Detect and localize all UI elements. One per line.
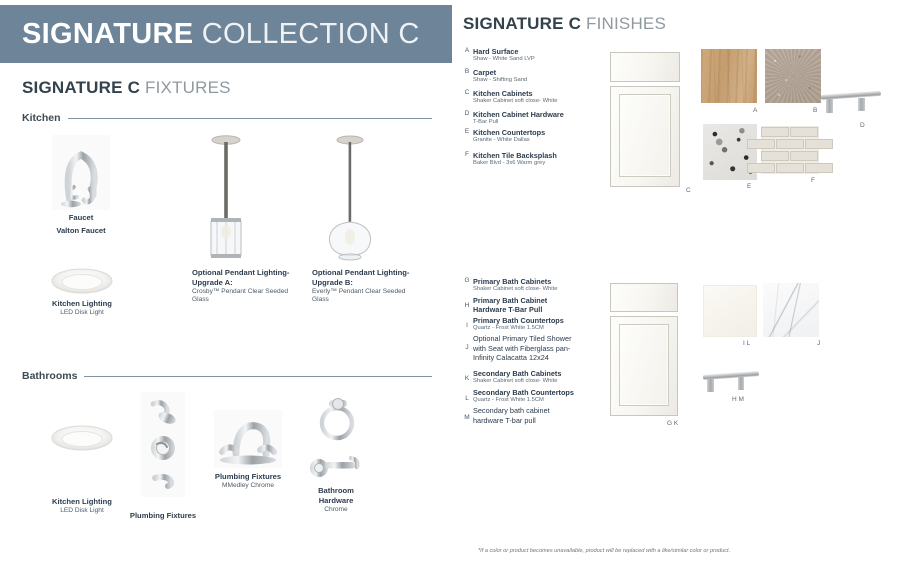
legend-name: Carpet xyxy=(473,68,569,77)
cabinet-drawer-front xyxy=(610,283,678,312)
legend-item-l: L Secondary Bath Countertops Quartz - Fr… xyxy=(461,388,579,405)
legend-name: Kitchen Cabinet Hardware xyxy=(473,110,583,119)
legend-item-k: K Secondary Bath Cabinets Shaker Cabinet… xyxy=(461,369,573,386)
legend-desc: T-Bar Pull xyxy=(473,119,583,127)
swatch-bath-cabinet xyxy=(610,283,678,416)
legend-name: Secondary Bath Cabinets xyxy=(473,369,573,378)
legend-letter: B xyxy=(461,68,473,75)
cabinet-drawer-front xyxy=(610,52,680,82)
shower-trim-icon xyxy=(141,392,185,497)
faucet-icon xyxy=(52,135,110,210)
pendant-b-title: Optional Pendant Lighting- Upgrade B: xyxy=(312,268,422,288)
faucet-subtitle: Valton Faucet xyxy=(45,226,117,236)
legend-item-d: D Kitchen Cabinet Hardware T-Bar Pull xyxy=(461,110,583,127)
legend-letter: D xyxy=(461,110,473,117)
legend-name: Primary Bath Cabinets xyxy=(473,277,573,286)
legend-letter: I xyxy=(461,316,473,329)
bathrooms-divider xyxy=(84,376,432,377)
swatch-label-gk: G K xyxy=(667,420,678,427)
legend-item-f: F Kitchen Tile Backsplash Baker Blvd - 3… xyxy=(461,151,579,168)
swatch-label-j: J xyxy=(817,340,820,347)
swatch-label-e: E xyxy=(747,183,751,190)
swatch-bath-hardware xyxy=(703,368,759,396)
legend-letter: E xyxy=(461,128,473,135)
lav-faucet-icon xyxy=(214,410,282,468)
swatch-kitchen-hardware xyxy=(821,88,881,118)
kitchen-lighting-title: Kitchen Lighting xyxy=(42,299,122,309)
toilet-paper-holder-icon xyxy=(307,450,365,482)
swatch-kitchen-cabinet xyxy=(610,52,680,187)
legend-desc: Granite - White Dallas xyxy=(473,137,573,145)
legend-name: Kitchen Countertops xyxy=(473,128,573,137)
finishes-heading: SIGNATURE C FINISHES xyxy=(463,14,666,34)
bar-pull-post-right xyxy=(858,98,865,112)
legend-name: Primary Bath Countertops xyxy=(473,316,573,325)
legend-item-a: A Hard Surface Shaw - White Sand LVP xyxy=(461,47,569,64)
legend-item-e: E Kitchen Countertops Granite - White Da… xyxy=(461,128,573,145)
legend-item-j: J Optional Primary Tiled Shower with Sea… xyxy=(461,334,579,363)
legend-letter: J xyxy=(461,334,473,351)
bar-pull-post-left xyxy=(826,99,833,113)
legend-name: Primary Bath Cabinet xyxy=(473,296,569,305)
legend-name: Optional Primary Tiled Shower with Seat … xyxy=(473,334,579,363)
swatch-bath-countertop xyxy=(703,285,757,337)
bar-pull-post-left xyxy=(707,379,714,392)
kitchen-lighting-subtitle: LED Disk Light xyxy=(42,309,122,318)
legend-desc: Shaker Cabinet soft close- White xyxy=(473,378,573,386)
fixture-faucet: Faucet Valton Faucet xyxy=(45,135,117,236)
swatch-label-f: F xyxy=(811,177,815,184)
banner-title-light: COLLECTION C xyxy=(202,18,420,50)
fixture-bath-hardware: Bathroom Hardware Chrome xyxy=(300,394,372,514)
collection-sheet: SIGNATURE COLLECTION C SIGNATURE C FIXTU… xyxy=(0,0,900,564)
pendant-b-subtitle: Everly™ Pendant Clear Seeded Glass xyxy=(312,288,422,305)
fixtures-heading-bold: SIGNATURE C xyxy=(22,78,140,97)
legend-item-m: M Secondary bath cabinet hardware T-bar … xyxy=(461,406,573,425)
bath-lighting-subtitle: LED Disk Light xyxy=(42,507,122,516)
cabinet-door-front xyxy=(610,86,680,187)
kitchen-divider xyxy=(68,118,432,119)
fixture-pendant-b: Optional Pendant Lighting- Upgrade B: Ev… xyxy=(312,132,422,305)
finishes-heading-bold: SIGNATURE C xyxy=(463,14,581,33)
pendant-a-subtitle: Crosby™ Pendant Clear Seeded Glass xyxy=(192,288,302,305)
swatch-kitchen-backsplash xyxy=(761,126,819,174)
plumbing-lav-title: Plumbing Fixtures xyxy=(212,472,284,482)
disk-light-icon xyxy=(51,268,113,294)
fixture-pendant-a: Optional Pendant Lighting- Upgrade A: Cr… xyxy=(192,132,302,305)
swatch-carpet xyxy=(765,49,821,103)
legend-letter: C xyxy=(461,89,473,96)
banner-title: SIGNATURE COLLECTION C xyxy=(0,18,420,51)
bath-lighting-title: Kitchen Lighting xyxy=(42,497,122,507)
kitchen-label-text: Kitchen xyxy=(22,112,61,124)
legend-item-b: B Carpet Shaw - Shifting Sand xyxy=(461,68,569,85)
legend-letter: L xyxy=(461,388,473,402)
swatch-label-c: C xyxy=(686,187,691,194)
pendant-a-title: Optional Pendant Lighting- Upgrade A: xyxy=(192,268,302,288)
bar-pull-post-right xyxy=(738,377,745,390)
fixture-plumbing-shower: Plumbing Fixtures xyxy=(128,392,198,521)
fixture-plumbing-lav: Plumbing Fixtures MMedley Chrome xyxy=(212,410,284,490)
legend-item-h: H Primary Bath Cabinet Hardware T-Bar Pu… xyxy=(461,296,569,315)
legend-desc: Shaw - White Sand LVP xyxy=(473,56,569,64)
legend-desc: Shaker Cabinet soft close- White xyxy=(473,286,573,294)
plumbing-lav-subtitle: MMedley Chrome xyxy=(212,482,284,491)
bathrooms-label-text: Bathrooms xyxy=(22,370,77,382)
legend-letter: G xyxy=(461,277,473,284)
fixtures-heading: SIGNATURE C FIXTURES xyxy=(22,78,231,98)
kitchen-section-label: Kitchen xyxy=(22,112,432,124)
legend-desc: Quartz - Frost White 1.5CM xyxy=(473,325,573,333)
bath-hardware-title: Bathroom Hardware xyxy=(300,486,372,506)
legend-item-i: I Primary Bath Countertops Quartz - Fros… xyxy=(461,316,573,333)
legend-name: Hard Surface xyxy=(473,47,569,56)
disk-light-icon xyxy=(51,425,113,451)
collection-banner: SIGNATURE COLLECTION C xyxy=(0,5,452,63)
cabinet-door-panel xyxy=(619,94,671,177)
fixture-bath-lighting: Kitchen Lighting LED Disk Light xyxy=(42,425,122,515)
plumbing-shower-title: Plumbing Fixtures xyxy=(128,511,198,521)
finishes-heading-light: FINISHES xyxy=(586,14,666,33)
disclaimer-footnote: *If a color or product becomes unavailab… xyxy=(478,548,730,554)
legend-desc: Shaw - Shifting Sand xyxy=(473,77,569,85)
legend-name: Kitchen Cabinets xyxy=(473,89,573,98)
swatch-label-hm: H M xyxy=(732,396,744,403)
legend-letter: F xyxy=(461,151,473,158)
cabinet-door-panel xyxy=(619,324,669,406)
legend-letter: A xyxy=(461,47,473,54)
pendant-a-icon xyxy=(198,132,254,262)
bathrooms-section-label: Bathrooms xyxy=(22,370,432,382)
legend-item-g: G Primary Bath Cabinets Shaker Cabinet s… xyxy=(461,277,573,294)
swatch-label-d: D xyxy=(860,122,865,129)
legend-name: Kitchen Tile Backsplash xyxy=(473,151,579,160)
towel-ring-icon xyxy=(307,394,365,446)
pendant-b-icon xyxy=(318,132,382,262)
fixtures-heading-light: FIXTURES xyxy=(145,78,231,97)
legend-desc: Baker Blvd - 3x6 Warm grey xyxy=(473,160,579,168)
swatch-hard-surface xyxy=(701,49,757,103)
finishes-panel: SIGNATURE C FINISHES A Hard Surface Shaw… xyxy=(455,0,900,564)
legend-desc: Shaker Cabinet soft close- White xyxy=(473,98,573,106)
cabinet-door-front xyxy=(610,316,678,416)
banner-title-bold: SIGNATURE xyxy=(22,18,193,50)
legend-letter: H xyxy=(461,296,473,309)
fixture-kitchen-lighting: Kitchen Lighting LED Disk Light xyxy=(42,268,122,317)
legend-item-c: C Kitchen Cabinets Shaker Cabinet soft c… xyxy=(461,89,573,106)
legend-name: Secondary Bath Countertops xyxy=(473,388,579,397)
legend-letter: K xyxy=(461,369,473,382)
fixtures-panel: SIGNATURE COLLECTION C SIGNATURE C FIXTU… xyxy=(0,0,455,564)
swatch-label-il: I L xyxy=(743,340,750,347)
swatch-shower-tile xyxy=(763,283,819,337)
legend-desc: Quartz - Frost White 1.5CM xyxy=(473,397,579,405)
faucet-title: Faucet xyxy=(45,213,117,223)
legend-name: Secondary bath cabinet hardware T-bar pu… xyxy=(473,406,573,425)
swatch-label-a: A xyxy=(753,107,757,114)
swatch-label-b: B xyxy=(813,107,817,114)
bath-hardware-subtitle: Chrome xyxy=(300,506,372,515)
legend-letter: M xyxy=(461,406,473,421)
legend-desc: Hardware T-Bar Pull xyxy=(473,305,569,314)
